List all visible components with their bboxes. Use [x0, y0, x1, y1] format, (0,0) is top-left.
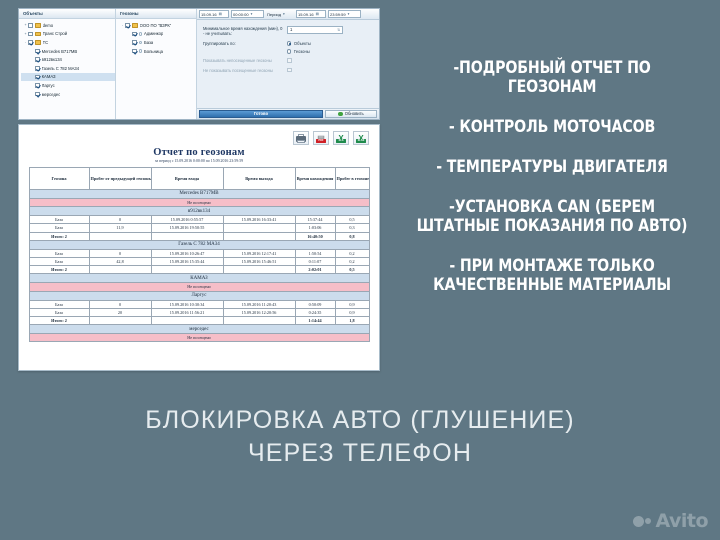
report-group-row: мерседес — [29, 325, 369, 334]
group-by-row: Группировать по: ОбъектыГеозоны — [203, 41, 373, 54]
time-from-field[interactable]: 00:00:00 ▾ — [231, 10, 264, 18]
tree-item-label: Газель С 782 МА34 — [42, 66, 79, 71]
column-header-mileage-in: Пробег в геозоне, км — [335, 168, 369, 190]
table-row: База2015.09.2016 11:56:2115.09.2016 12:2… — [29, 308, 369, 316]
report-title: Отчет по геозонам — [19, 147, 379, 158]
bottom-caption: БЛОКИРОВКА АВТО (ГЛУШЕНИЕ) ЧЕРЕЗ ТЕЛЕФОН — [0, 404, 720, 470]
cell-total-blank-1 — [89, 232, 151, 240]
tree-item-label: ТС — [43, 40, 49, 45]
spinner-arrows-icon[interactable]: ⇅ — [337, 29, 340, 32]
calendar-icon[interactable]: ▤ — [316, 11, 319, 18]
report-group-name: в912вк134 — [29, 207, 369, 216]
report-table-body: Mercedes B717MBНе посещенов912вк134База0… — [29, 190, 369, 342]
calendar-icon[interactable]: ▤ — [219, 11, 222, 18]
promo-line: - КОНТРОЛЬ МОТОЧАСОВ — [414, 117, 689, 136]
time-to-value: 23:59:59 — [330, 11, 346, 18]
report-group-row: Ларгус — [29, 291, 369, 300]
object-tree-item[interactable]: КАМАЗ — [21, 73, 115, 82]
xls-badge: XLS — [336, 139, 346, 143]
object-tree-item[interactable]: мерседес — [21, 90, 115, 99]
table-header-row: Геозона Пробег от предыдущей геозоны, км… — [29, 168, 369, 190]
cell-total-stay: 16:40:50 — [295, 232, 335, 240]
cell-mileage-prev: 11,9 — [89, 224, 151, 232]
report-group-row: Mercedes B717MB — [29, 190, 369, 199]
object-tree-item[interactable]: Газель С 782 МА34 — [21, 64, 115, 73]
objects-panel: Объекты +demo+Транс Строй-ТСMercedes B71… — [19, 9, 116, 119]
object-tree-item[interactable]: -ТС — [21, 38, 115, 47]
cell-exit-time — [223, 224, 295, 232]
cell-enter-time: 15.09.2016 11:56:21 — [151, 308, 223, 316]
cell-enter-time: 15.09.2016 19:50:55 — [151, 224, 223, 232]
tree-item-checkbox[interactable] — [28, 40, 33, 45]
cell-total-mileage: 1,8 — [335, 317, 369, 325]
caption-line-2: ЧЕРЕЗ ТЕЛЕФОН — [0, 437, 720, 470]
report-group-row: КАМАЗ — [29, 274, 369, 283]
tree-item-checkbox[interactable] — [28, 23, 33, 28]
cell-stay-time: 1:50:54 — [295, 249, 335, 257]
min-stay-label: Минимальное время нахождения (мин), 0 - … — [203, 26, 287, 37]
cell-stay-time: 0:24:35 — [295, 308, 335, 316]
cell-geozone: База — [29, 249, 89, 257]
report-group-row: Газель С 782 МА34 — [29, 240, 369, 249]
refresh-icon — [338, 112, 343, 117]
tree-item-label: Транс Строй — [43, 31, 68, 36]
no-visit-text: Не посещено — [29, 199, 369, 207]
column-header-mileage-prev: Пробег от предыдущей геозоны, км — [89, 168, 151, 190]
group-by-option[interactable]: Геозоны — [287, 49, 311, 54]
folder-icon — [35, 40, 41, 45]
column-header-stay-time: Время нахождения — [295, 168, 335, 190]
report-group-name: мерседес — [29, 325, 369, 334]
promo-line: -ПОДРОБНЫЙ ОТЧЕТ ПО ГЕОЗОНАМ — [414, 58, 689, 96]
tree-item-checkbox[interactable] — [35, 66, 40, 71]
tree-item-checkbox[interactable] — [125, 23, 130, 28]
tree-item-checkbox[interactable] — [35, 75, 40, 80]
cell-geozone: База — [29, 224, 89, 232]
refresh-button[interactable]: Обновить — [325, 110, 377, 118]
tree-item-label: мерседес — [42, 92, 61, 97]
geofence-tree-item[interactable]: Админкор — [118, 30, 196, 39]
cell-exit-time: 15.09.2016 16:33:41 — [223, 216, 295, 224]
cell-mileage-prev: 42,8 — [89, 258, 151, 266]
report-settings-panel: 15.09.16 ▤ 00:00:00 ▾ Период ▾ 15.09.16 … — [197, 9, 379, 119]
geofence-marker-icon — [139, 41, 142, 44]
cell-total-blank-2 — [151, 232, 223, 240]
cell-enter-time: 15.09.2016 15:35:44 — [151, 258, 223, 266]
cell-total-stay: 2:02:01 — [295, 266, 335, 274]
tree-item-label: demo — [43, 23, 53, 28]
cell-enter-time: 15.09.2016 0:55:57 — [151, 216, 223, 224]
tree-item-checkbox[interactable] — [132, 49, 137, 54]
cell-total-mileage: 0,8 — [335, 232, 369, 240]
cell-total-label: Итого: 2 — [29, 317, 89, 325]
geofence-report-table: Геозона Пробег от предыдущей геозоны, км… — [29, 167, 370, 342]
avito-logo-icon — [633, 516, 652, 527]
settings-checkbox-label: Не показывать посещенные геозоны — [203, 68, 287, 73]
table-row: База015.09.2016 10:26:4715.09.2016 12:17… — [29, 249, 369, 257]
promo-line: -УСТАНОВКА CAN (БЕРЕМ ШТАТНЫЕ ПОКАЗАНИЯ … — [414, 197, 689, 235]
gps-tracking-app-window: Объекты +demo+Транс Строй-ТСMercedes B71… — [18, 8, 380, 120]
folder-icon — [35, 32, 41, 37]
cell-mileage-in: 0,2 — [335, 249, 369, 257]
group-by-label: Группировать по: — [203, 41, 287, 46]
cell-stay-time: 15:37:44 — [295, 216, 335, 224]
settings-checkbox-row[interactable]: Не показывать посещенные геозоны — [203, 68, 373, 73]
tree-item-label: ООО ПО "ВЗРК" — [140, 23, 172, 28]
min-stay-row: Минимальное время нахождения (мин), 0 - … — [203, 26, 373, 37]
cell-mileage-in: 0,9 — [335, 308, 369, 316]
chevron-down-icon[interactable]: ▾ — [348, 11, 350, 18]
folder-icon — [132, 23, 138, 28]
group-by-option[interactable]: Объекты — [287, 41, 311, 46]
settings-checkbox-label: Показывать непосещенные геозоны — [203, 58, 287, 63]
cell-total-blank-1 — [89, 266, 151, 274]
tree-item-label: в912вк134 — [42, 57, 62, 62]
report-no-visit-row: Не посещено — [29, 334, 369, 342]
report-group-name: Mercedes B717MB — [29, 190, 369, 199]
group-by-radio-group[interactable]: ОбъектыГеозоны — [287, 41, 311, 54]
cell-mileage-prev: 0 — [89, 216, 151, 224]
tree-item-label: Ларгус — [42, 83, 55, 88]
excel-xls-export-icon[interactable]: X XLS — [333, 131, 349, 145]
promo-line: - ТЕМПЕРАТУРЫ ДВИГАТЕЛЯ — [414, 157, 689, 176]
column-header-enter-time: Время входа — [151, 168, 223, 190]
refresh-button-label: Обновить — [345, 111, 364, 116]
caption-line-1: БЛОКИРОВКА АВТО (ГЛУШЕНИЕ) — [0, 404, 720, 437]
report-group-name: КАМАЗ — [29, 274, 369, 283]
min-stay-value: 1 — [290, 27, 292, 32]
tree-item-checkbox[interactable] — [28, 32, 33, 37]
cell-enter-time: 15.09.2016 10:26:47 — [151, 249, 223, 257]
radio-button[interactable] — [287, 49, 291, 53]
cell-mileage-in: 0,9 — [335, 300, 369, 308]
tree-item-checkbox[interactable] — [132, 32, 137, 37]
objects-panel-header: Объекты — [19, 9, 115, 19]
cell-total-blank-2 — [151, 317, 223, 325]
cell-total-blank-2 — [151, 266, 223, 274]
table-row: База015.09.2016 0:55:5715.09.2016 16:33:… — [29, 216, 369, 224]
no-visit-text: Не посещено — [29, 334, 369, 342]
geofences-tree[interactable]: -ООО ПО "ВЗРК"АдминкорБазаБольница — [116, 19, 196, 119]
xlsx-badge: XLSX — [356, 139, 366, 143]
table-row: База015.09.2016 10:30:3415.09.2016 11:20… — [29, 300, 369, 308]
report-total-row: Итого: 22:02:010,5 — [29, 266, 369, 274]
date-from-value: 15.09.16 — [201, 11, 217, 18]
cell-total-blank-3 — [223, 232, 295, 240]
printer-output-shape — [297, 140, 305, 143]
settings-checkbox[interactable] — [287, 58, 292, 63]
avito-wordmark: Avito — [655, 510, 708, 532]
cell-total-blank-3 — [223, 317, 295, 325]
tree-item-label: База — [144, 40, 153, 45]
cell-exit-time: 15.09.2016 12:20:56 — [223, 308, 295, 316]
cell-stay-time: 0:11:07 — [295, 258, 335, 266]
promo-line: - ПРИ МОНТАЖЕ ТОЛЬКО КАЧЕСТВЕННЫЕ МАТЕРИ… — [414, 256, 689, 294]
min-stay-input[interactable]: 1 ⇅ — [287, 26, 343, 34]
cell-stay-time: 0:50:09 — [295, 300, 335, 308]
tree-item-label: Админкор — [144, 31, 163, 36]
period-label: Период — [267, 11, 281, 18]
cell-geozone: База — [29, 216, 89, 224]
object-tree-item[interactable]: Ларгус — [21, 81, 115, 90]
table-row: База42,815.09.2016 15:35:4415.09.2016 15… — [29, 258, 369, 266]
cell-exit-time: 15.09.2016 12:17:41 — [223, 249, 295, 257]
cell-mileage-prev: 0 — [89, 300, 151, 308]
column-header-geozone: Геозона — [29, 168, 89, 190]
geofence-tree-item[interactable]: База — [118, 38, 196, 47]
settings-body: Минимальное время нахождения (мин), 0 - … — [197, 20, 379, 77]
cell-mileage-prev: 20 — [89, 308, 151, 316]
report-group-name: Ларгус — [29, 291, 369, 300]
pdf-badge: PDF — [316, 139, 326, 143]
avito-logo-dot-small — [645, 518, 651, 524]
chevron-down-icon[interactable]: ▾ — [283, 11, 285, 18]
settings-checkbox-list[interactable]: Показывать непосещенные геозоныНе показы… — [203, 58, 373, 73]
cell-total-blank-3 — [223, 266, 295, 274]
group-by-option-label: Геозоны — [294, 49, 310, 54]
cell-stay-time: 1:03:06 — [295, 224, 335, 232]
cell-total-label: Итого: 2 — [29, 232, 89, 240]
tree-item-checkbox[interactable] — [35, 92, 40, 97]
cell-total-label: Итого: 2 — [29, 266, 89, 274]
cell-mileage-in: 0,5 — [335, 216, 369, 224]
report-subtitle: за период с 15.09.2016 0:00:00 по 15.09.… — [19, 159, 379, 163]
geofences-panel-header: Геозоны — [116, 9, 196, 19]
cell-geozone: База — [29, 258, 89, 266]
report-group-name: Газель С 782 МА34 — [29, 240, 369, 249]
geofence-marker-icon — [139, 32, 142, 35]
cell-mileage-prev: 0 — [89, 249, 151, 257]
folder-icon — [35, 23, 41, 28]
no-visit-text: Не посещено — [29, 283, 369, 291]
report-no-visit-row: Не посещено — [29, 199, 369, 207]
cell-total-stay: 1:14:44 — [295, 317, 335, 325]
report-group-row: в912вк134 — [29, 207, 369, 216]
object-tree-item[interactable]: в912вк134 — [21, 55, 115, 64]
avito-logo-dot-large — [633, 516, 644, 527]
cell-mileage-in: 0,3 — [335, 224, 369, 232]
tree-item-label: КАМАЗ — [42, 74, 56, 79]
promo-text-block: -ПОДРОБНЫЙ ОТЧЕТ ПО ГЕОЗОНАМ- КОНТРОЛЬ М… — [392, 58, 712, 294]
objects-tree[interactable]: +demo+Транс Строй-ТСMercedes B717MBв912в… — [19, 19, 115, 119]
settings-checkbox-row[interactable]: Показывать непосещенные геозоны — [203, 58, 373, 63]
tree-item-checkbox[interactable] — [35, 83, 40, 88]
avito-watermark: Avito — [633, 510, 708, 532]
period-toolbar: 15.09.16 ▤ 00:00:00 ▾ Период ▾ 15.09.16 … — [197, 9, 379, 20]
cell-enter-time: 15.09.2016 10:30:34 — [151, 300, 223, 308]
tree-item-label: Mercedes B717MB — [42, 49, 78, 54]
cell-total-blank-1 — [89, 317, 151, 325]
report-no-visit-row: Не посещено — [29, 283, 369, 291]
object-tree-item[interactable]: +Транс Строй — [21, 30, 115, 39]
object-tree-item[interactable]: +demo — [21, 21, 115, 30]
chevron-down-icon[interactable]: ▾ — [251, 11, 253, 18]
geofence-marker-icon — [139, 49, 142, 52]
pdf-export-icon[interactable]: ▤ PDF — [313, 131, 329, 145]
date-from-field[interactable]: 15.09.16 ▤ — [199, 10, 229, 18]
cell-total-mileage: 0,5 — [335, 266, 369, 274]
excel-xlsx-export-icon[interactable]: X XLSX — [353, 131, 369, 145]
date-to-field[interactable]: 15.09.16 ▤ — [296, 10, 326, 18]
geofence-tree-item[interactable]: Больница — [118, 47, 196, 56]
build-report-button[interactable]: Готово — [199, 110, 323, 118]
settings-button-bar: Готово Обновить — [197, 108, 379, 119]
tree-item-checkbox[interactable] — [132, 40, 137, 45]
time-to-field[interactable]: 23:59:59 ▾ — [328, 10, 361, 18]
cell-exit-time: 15.09.2016 15:46:51 — [223, 258, 295, 266]
print-icon[interactable] — [293, 131, 309, 145]
cell-geozone: База — [29, 300, 89, 308]
tree-item-label: Больница — [144, 49, 163, 54]
report-total-row: Итого: 216:40:500,8 — [29, 232, 369, 240]
geofence-tree-item[interactable]: -ООО ПО "ВЗРК" — [118, 21, 196, 30]
tree-item-checkbox[interactable] — [35, 49, 40, 54]
column-header-exit-time: Время выхода — [223, 168, 295, 190]
group-by-option-label: Объекты — [294, 41, 311, 46]
table-row: База11,915.09.2016 19:50:551:03:060,3 — [29, 224, 369, 232]
report-total-row: Итого: 21:14:441,8 — [29, 317, 369, 325]
time-from-value: 00:00:00 — [233, 11, 249, 18]
period-selector[interactable]: Период ▾ — [266, 10, 294, 18]
radio-button[interactable] — [287, 41, 291, 45]
report-export-toolbar: ▤ PDF X XLS X XLSX — [19, 125, 379, 145]
tree-item-checkbox[interactable] — [35, 57, 40, 62]
object-tree-item[interactable]: Mercedes B717MB — [21, 47, 115, 56]
report-window: ▤ PDF X XLS X XLSX Отчет по геозонам за … — [18, 124, 380, 371]
cell-mileage-in: 0,2 — [335, 258, 369, 266]
cell-exit-time: 15.09.2016 11:20:43 — [223, 300, 295, 308]
cell-geozone: База — [29, 308, 89, 316]
geofences-panel: Геозоны -ООО ПО "ВЗРК"АдминкорБазаБольни… — [116, 9, 197, 119]
settings-checkbox[interactable] — [287, 68, 292, 73]
date-to-value: 15.09.16 — [298, 11, 314, 18]
